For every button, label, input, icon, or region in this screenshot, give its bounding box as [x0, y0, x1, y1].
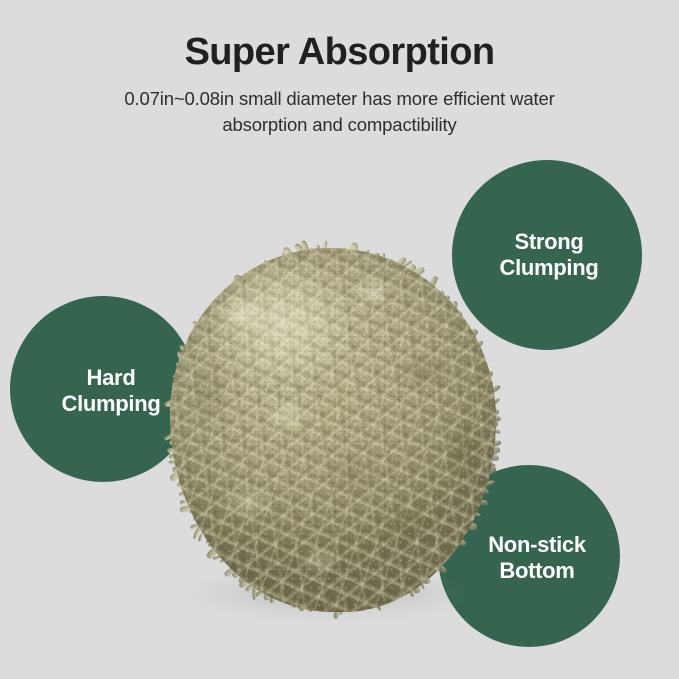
feature-badge-non-stick-bottom-label: Non-stick Bottom — [488, 532, 586, 585]
feature-badge-hard-clumping-label: Hard Clumping — [61, 365, 160, 418]
page-subtitle: 0.07in~0.08in small diameter has more ef… — [90, 86, 590, 139]
header-block: Super Absorption 0.07in~0.08in small dia… — [0, 32, 679, 138]
litter-ball-lighting — [170, 248, 496, 612]
feature-badge-strong-clumping: Strong Clumping — [452, 160, 642, 350]
product-infographic: Super Absorption 0.07in~0.08in small dia… — [0, 0, 679, 679]
litter-ball-body — [170, 248, 496, 612]
feature-badge-strong-clumping-label: Strong Clumping — [499, 229, 598, 282]
page-title: Super Absorption — [0, 32, 679, 74]
clumped-litter-ball — [168, 248, 498, 618]
